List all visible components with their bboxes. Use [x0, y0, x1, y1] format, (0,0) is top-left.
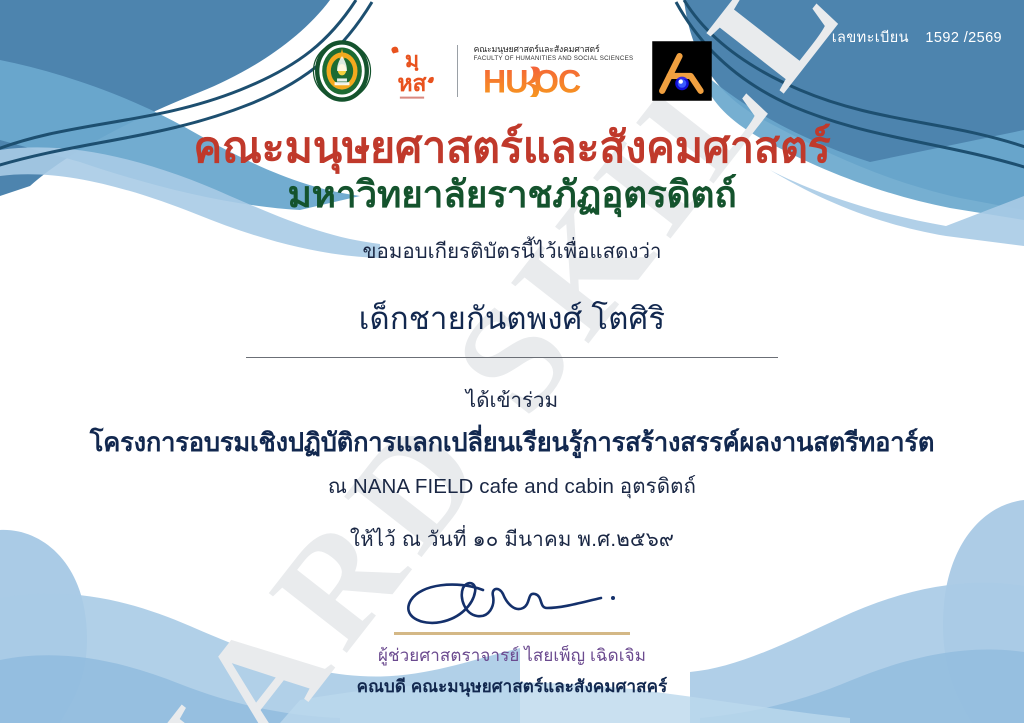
recipient-name-rule [246, 357, 778, 358]
svg-text:HU: HU [483, 64, 528, 98]
registration-label: เลขทะเบียน [832, 30, 909, 46]
lead-line: ขอมอบเกียรติบัตรนี้ไว้เพื่อแสดงว่า [363, 239, 662, 266]
signer-name: ผู้ช่วยศาสตราจารย์ ไสยเพ็ญ เฉิดเจิม [378, 642, 646, 669]
husoc-thai-name: คณะมนุษยศาสตร์และสังคมศาสตร์ [474, 45, 634, 54]
faculty-title: คณะมนุษยศาสตร์และสังคมศาสตร์ [193, 124, 830, 172]
signature-icon [387, 578, 637, 630]
mhs-monogram-icon: มฺ หส [383, 40, 441, 102]
nana-field-logo-icon [651, 40, 713, 102]
certificate-content: มฺ หส คณะมนุษยศาสตร์และสังคมศาสตร์ FACUL… [0, 0, 1024, 723]
certificate-page: HARD SKILLS เลขทะเบียน 1592 /2569 [0, 0, 1024, 723]
svg-text:หส: หส [397, 70, 427, 96]
svg-text:มฺ: มฺ [405, 47, 419, 72]
registration-value: 1592 /2569 [925, 30, 1002, 46]
svg-text:OC: OC [534, 64, 581, 98]
signature-block: ผู้ช่วยศาสตราจารย์ ไสยเพ็ญ เฉิดเจิม คณบด… [357, 578, 668, 700]
logo-divider [457, 45, 458, 97]
joined-label: ได้เข้าร่วม [466, 384, 558, 417]
signer-title: คณบดี คณะมนุษยศาสตร์และสังคมศาสคร์ [357, 673, 668, 700]
university-title: มหาวิทยาลัยราชภัฏอุตรดิตถ์ [287, 174, 736, 217]
logo-row: มฺ หส คณะมนุษยศาสตร์และสังคมศาสตร์ FACUL… [311, 36, 714, 106]
husoc-logo: คณะมนุษยศาสตร์และสังคมศาสตร์ FACULTY OF … [474, 45, 634, 98]
event-venue: ณ NANA FIELD cafe and cabin อุตรดิตถ์ [328, 470, 696, 503]
registration-number: เลขทะเบียน 1592 /2569 [832, 26, 1002, 49]
husoc-wordmark-icon: HU OC [474, 63, 634, 97]
signature-rule [394, 632, 630, 635]
issued-date: ให้ไว้ ณ วันที่ ๑๐ มีนาคม พ.ศ.๒๕๖๙ [350, 523, 674, 556]
university-seal-icon [311, 40, 373, 102]
recipient-name: เด็กชายกันตพงศ์ โตศิริ [359, 293, 666, 343]
husoc-english-name: FACULTY OF HUMANITIES AND SOCIAL SCIENCE… [474, 55, 634, 62]
project-name: โครงการอบรมเชิงปฏิบัติการแลกเปลี่ยนเรียน… [90, 423, 934, 463]
